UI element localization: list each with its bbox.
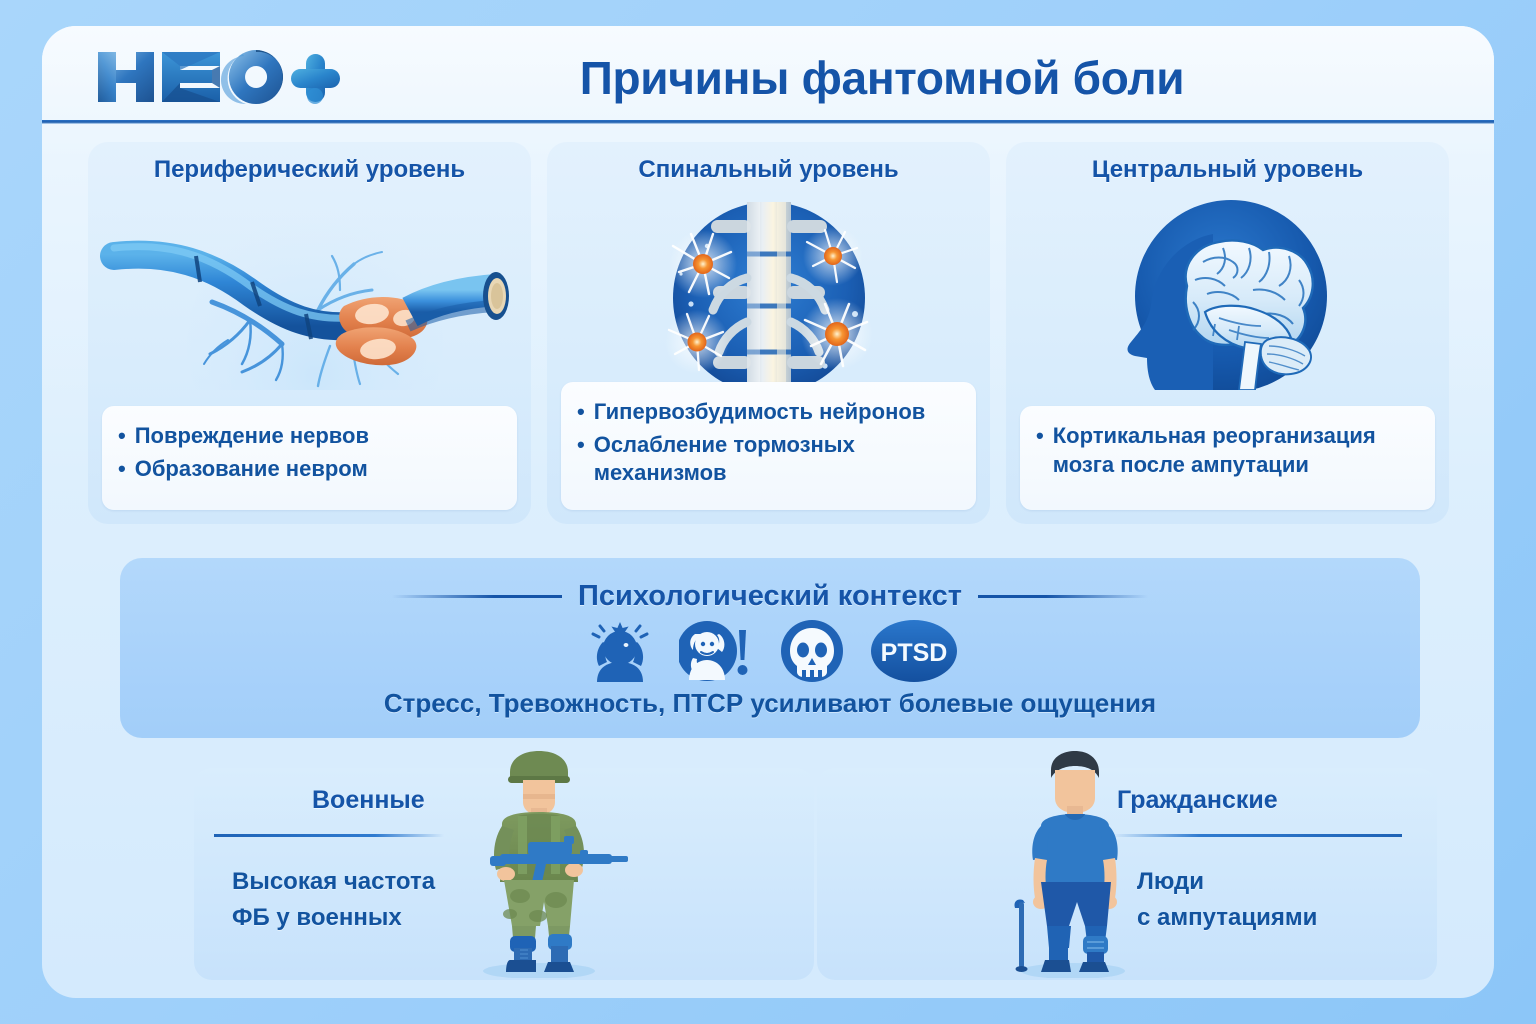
group-card-military: Военные Высокая частота ФБ у военных <box>194 768 814 980</box>
level-card-peripheral: Периферический уровень <box>88 142 531 524</box>
bullet-text: Ослабление тормозных механизмов <box>594 431 962 488</box>
skull-icon <box>775 620 849 682</box>
psychological-context-panel: Психологический контекст <box>120 558 1420 738</box>
level-card-central: Центральный уровень <box>1006 142 1449 524</box>
bullet-dot-icon: • <box>118 422 126 451</box>
spinal-cord-neurons-illustration <box>547 194 990 394</box>
bullet-text: Гипервозбудимость нейронов <box>594 398 962 427</box>
infographic-poster: Причины фантомной боли Периферический ур… <box>42 26 1494 998</box>
level-title-central: Центральный уровень <box>1006 156 1449 184</box>
bullet-item: • Повреждение нервов <box>118 422 503 451</box>
civilian-with-cane-and-prosthetic-leg-figure <box>977 750 1152 978</box>
bullet-text: Образование невром <box>135 455 503 484</box>
group-divider-civil <box>1112 834 1402 837</box>
bullet-box-peripheral: • Повреждение нервов • Образование невро… <box>102 406 517 510</box>
damaged-nerve-neuroma-illustration <box>88 194 531 394</box>
group-text-line1: Высокая частота <box>232 864 435 900</box>
group-card-civil: Гражданские Люди с ампутациями <box>817 768 1437 980</box>
bullet-dot-icon: • <box>577 431 585 460</box>
bullet-item: • Гипервозбудимость нейронов <box>577 398 962 427</box>
level-card-spinal: Спинальный уровень <box>547 142 990 524</box>
brain-head-profile-illustration <box>1006 194 1449 394</box>
bullet-box-central: • Кортикальная реорганизация мозга после… <box>1020 406 1435 510</box>
bullet-item: • Кортикальная реорганизация мозга после… <box>1036 422 1421 479</box>
psych-caption: Стресс, Тревожность, ПТСР усиливают боле… <box>120 688 1420 719</box>
soldier-with-prosthetic-leg-figure <box>444 750 634 978</box>
psych-icon-row: PTSD <box>120 620 1420 682</box>
level-title-spinal: Спинальный уровень <box>547 156 990 184</box>
bullet-item: • Образование невром <box>118 455 503 484</box>
bullet-text: Повреждение нервов <box>135 422 503 451</box>
group-text-line2: с ампутациями <box>1137 900 1317 936</box>
header-divider <box>42 120 1494 124</box>
anxiety-person-exclamation-icon <box>679 620 753 682</box>
psych-title: Психологический контекст <box>578 580 962 613</box>
group-text-line1: Люди <box>1137 864 1317 900</box>
ptsd-label: PTSD <box>881 639 948 667</box>
bullet-box-spinal: • Гипервозбудимость нейронов • Ослаблени… <box>561 382 976 510</box>
level-title-peripheral: Периферический уровень <box>88 156 531 184</box>
bullet-text: Кортикальная реорганизация мозга после а… <box>1053 422 1421 479</box>
header-bar: Причины фантомной боли <box>42 26 1494 122</box>
psych-rule-right <box>978 595 1148 598</box>
neo-plus-logo <box>92 42 342 110</box>
bullet-dot-icon: • <box>118 455 126 484</box>
group-text-civil: Люди с ампутациями <box>1137 864 1317 936</box>
bullet-item: • Ослабление тормозных механизмов <box>577 431 962 488</box>
psych-header: Психологический контекст <box>120 580 1420 613</box>
psych-rule-left <box>392 595 562 598</box>
group-divider-military <box>214 834 444 837</box>
group-title-military: Военные <box>312 786 425 815</box>
bullet-dot-icon: • <box>577 398 585 427</box>
group-text-line2: ФБ у военных <box>232 900 435 936</box>
bullet-dot-icon: • <box>1036 422 1044 451</box>
page-title: Причины фантомной боли <box>382 42 1382 114</box>
group-text-military: Высокая частота ФБ у военных <box>232 864 435 936</box>
stress-person-icon <box>583 620 657 682</box>
ptsd-badge-icon: PTSD <box>871 620 957 682</box>
